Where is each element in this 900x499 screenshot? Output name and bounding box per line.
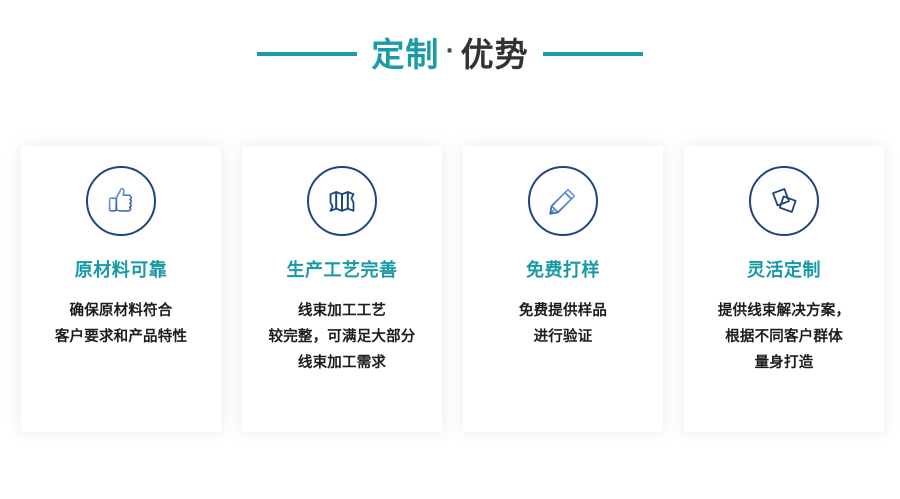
advantage-card-description: 免费提供样品 进行验证 [472, 298, 654, 350]
description-line: 较完整，可满足大部分 [251, 324, 433, 350]
description-line: 根据不同客户群体 [693, 324, 875, 350]
advantage-card-title: 灵活定制 [747, 262, 821, 280]
advantage-card-description: 线束加工工艺 较完整，可满足大部分 线束加工需求 [251, 298, 433, 376]
advantage-card-list: 原材料可靠 确保原材料符合 客户要求和产品特性 生产工艺完善 [21, 146, 884, 432]
advantage-card[interactable]: 灵活定制 提供线束解决方案， 根据不同客户群体 量身打造 [684, 146, 884, 432]
advantage-card-title: 免费打样 [526, 262, 600, 280]
description-line: 线束加工需求 [251, 350, 433, 376]
advantage-card-description: 确保原材料符合 客户要求和产品特性 [30, 298, 212, 350]
page-title-separator: · [441, 41, 458, 63]
advantage-card-description: 提供线束解决方案， 根据不同客户群体 量身打造 [693, 298, 875, 376]
advantage-card-title: 生产工艺完善 [287, 262, 398, 280]
description-line: 提供线束解决方案， [693, 298, 875, 324]
description-line: 量身打造 [693, 350, 875, 376]
advantage-card[interactable]: 原材料可靠 确保原材料符合 客户要求和产品特性 [21, 146, 221, 432]
advantage-card[interactable]: 免费打样 免费提供样品 进行验证 [463, 146, 663, 432]
advantage-card-title: 原材料可靠 [75, 262, 168, 280]
page-title: 定制 · 优势 [371, 38, 528, 71]
folded-map-icon [307, 166, 377, 236]
description-line: 进行验证 [472, 324, 654, 350]
page-title-main: 优势 [461, 38, 529, 71]
advantages-section: 定制 · 优势 原材料可靠 [0, 0, 900, 499]
header-rule-right [543, 52, 643, 56]
page-title-accent: 定制 [371, 38, 439, 71]
header-rule-left [257, 52, 357, 56]
description-line: 客户要求和产品特性 [30, 324, 212, 350]
description-line: 确保原材料符合 [30, 298, 212, 324]
section-header: 定制 · 优势 [0, 28, 900, 80]
advantage-card[interactable]: 生产工艺完善 线束加工工艺 较完整，可满足大部分 线束加工需求 [242, 146, 442, 432]
description-line: 免费提供样品 [472, 298, 654, 324]
pencil-icon [528, 166, 598, 236]
description-line: 线束加工工艺 [251, 298, 433, 324]
stacked-sheets-icon [749, 166, 819, 236]
thumbs-up-icon [86, 166, 156, 236]
